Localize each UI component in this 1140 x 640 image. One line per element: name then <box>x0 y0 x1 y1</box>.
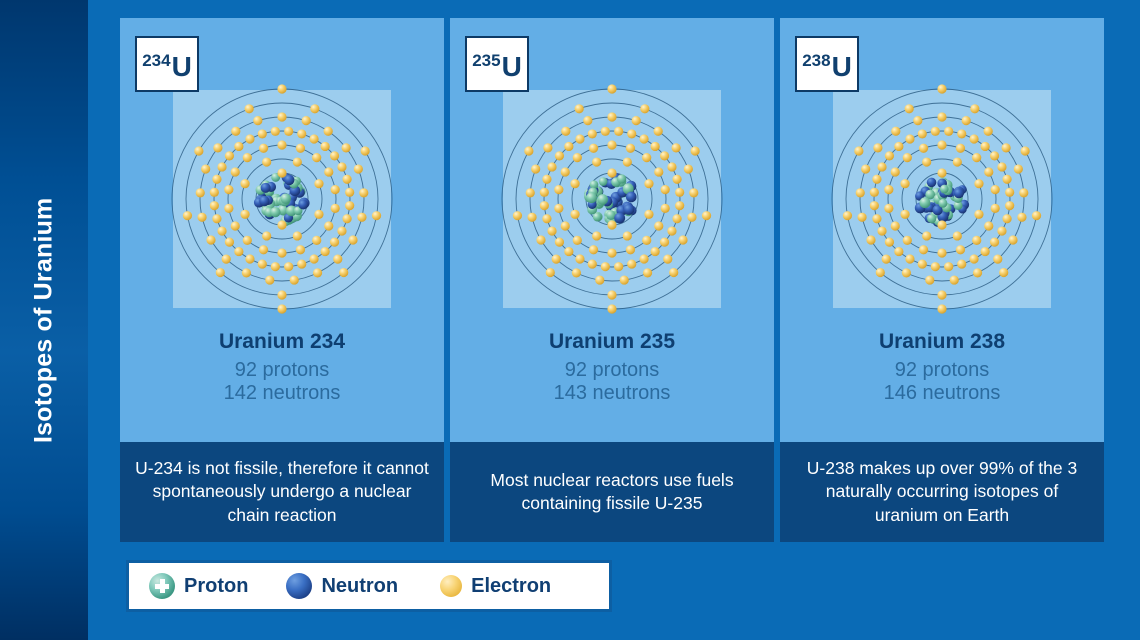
badge-mass-number: 238 <box>802 52 830 69</box>
isotope-caption: Uranium 234 92 protons 142 neutrons <box>219 330 345 406</box>
legend-label: Electron <box>471 575 551 598</box>
proton-sphere-icon <box>149 573 175 599</box>
badge-element-symbol: U <box>832 53 852 81</box>
isotope-name: Uranium 235 <box>549 330 675 355</box>
isotope-protons: 92 protons <box>219 359 345 383</box>
legend-item-proton: Proton <box>149 573 248 599</box>
atom-diagram-234 <box>173 90 391 308</box>
isotope-fact-box: Most nuclear reactors use fuels containi… <box>450 442 774 542</box>
legend-label: Neutron <box>321 575 398 598</box>
panel-body: 235 U Uranium 235 92 protons 143 neutron… <box>450 18 774 442</box>
isotope-panel-235: 235 U Uranium 235 92 protons 143 neutron… <box>450 18 774 542</box>
neutron-sphere-icon <box>286 573 312 599</box>
panel-body: 238 U Uranium 238 92 protons 146 neutron… <box>780 18 1104 442</box>
isotope-protons: 92 protons <box>549 359 675 383</box>
panel-body: 234 U Uranium 234 92 protons 142 neutron… <box>120 18 444 442</box>
electron-sphere-icon <box>440 575 462 597</box>
isotope-badge: 235 U <box>465 36 529 92</box>
page-title: Isotopes of Uranium <box>0 0 88 640</box>
isotope-protons: 92 protons <box>879 359 1005 383</box>
badge-element-symbol: U <box>172 53 192 81</box>
isotope-badge: 234 U <box>135 36 199 92</box>
isotope-panels: 234 U Uranium 234 92 protons 142 neutron… <box>120 18 1120 542</box>
isotope-name: Uranium 234 <box>219 330 345 355</box>
isotope-neutrons: 142 neutrons <box>219 382 345 406</box>
badge-mass-number: 234 <box>142 52 170 69</box>
isotope-fact-box: U-234 is not fissile, therefore it canno… <box>120 442 444 542</box>
isotope-caption: Uranium 238 92 protons 146 neutrons <box>879 330 1005 406</box>
badge-mass-number: 235 <box>472 52 500 69</box>
isotope-fact-text: Most nuclear reactors use fuels containi… <box>464 469 760 516</box>
isotope-fact-box: U-238 makes up over 99% of the 3 natural… <box>780 442 1104 542</box>
atom-diagram-235 <box>503 90 721 308</box>
isotope-neutrons: 146 neutrons <box>879 382 1005 406</box>
legend-item-electron: Electron <box>440 575 551 598</box>
legend: Proton Neutron Electron <box>126 560 612 612</box>
isotope-neutrons: 143 neutrons <box>549 382 675 406</box>
badge-element-symbol: U <box>502 53 522 81</box>
isotope-fact-text: U-234 is not fissile, therefore it canno… <box>134 457 430 527</box>
isotope-badge: 238 U <box>795 36 859 92</box>
isotope-name: Uranium 238 <box>879 330 1005 355</box>
infographic-root: Isotopes of Uranium 234 U Uranium 234 92… <box>0 0 1140 640</box>
isotope-panel-238: 238 U Uranium 238 92 protons 146 neutron… <box>780 18 1104 542</box>
legend-item-neutron: Neutron <box>286 573 398 599</box>
sidebar: Isotopes of Uranium <box>0 0 88 640</box>
legend-label: Proton <box>184 575 248 598</box>
isotope-fact-text: U-238 makes up over 99% of the 3 natural… <box>794 457 1090 527</box>
isotope-caption: Uranium 235 92 protons 143 neutrons <box>549 330 675 406</box>
isotope-panel-234: 234 U Uranium 234 92 protons 142 neutron… <box>120 18 444 542</box>
atom-diagram-238 <box>833 90 1051 308</box>
